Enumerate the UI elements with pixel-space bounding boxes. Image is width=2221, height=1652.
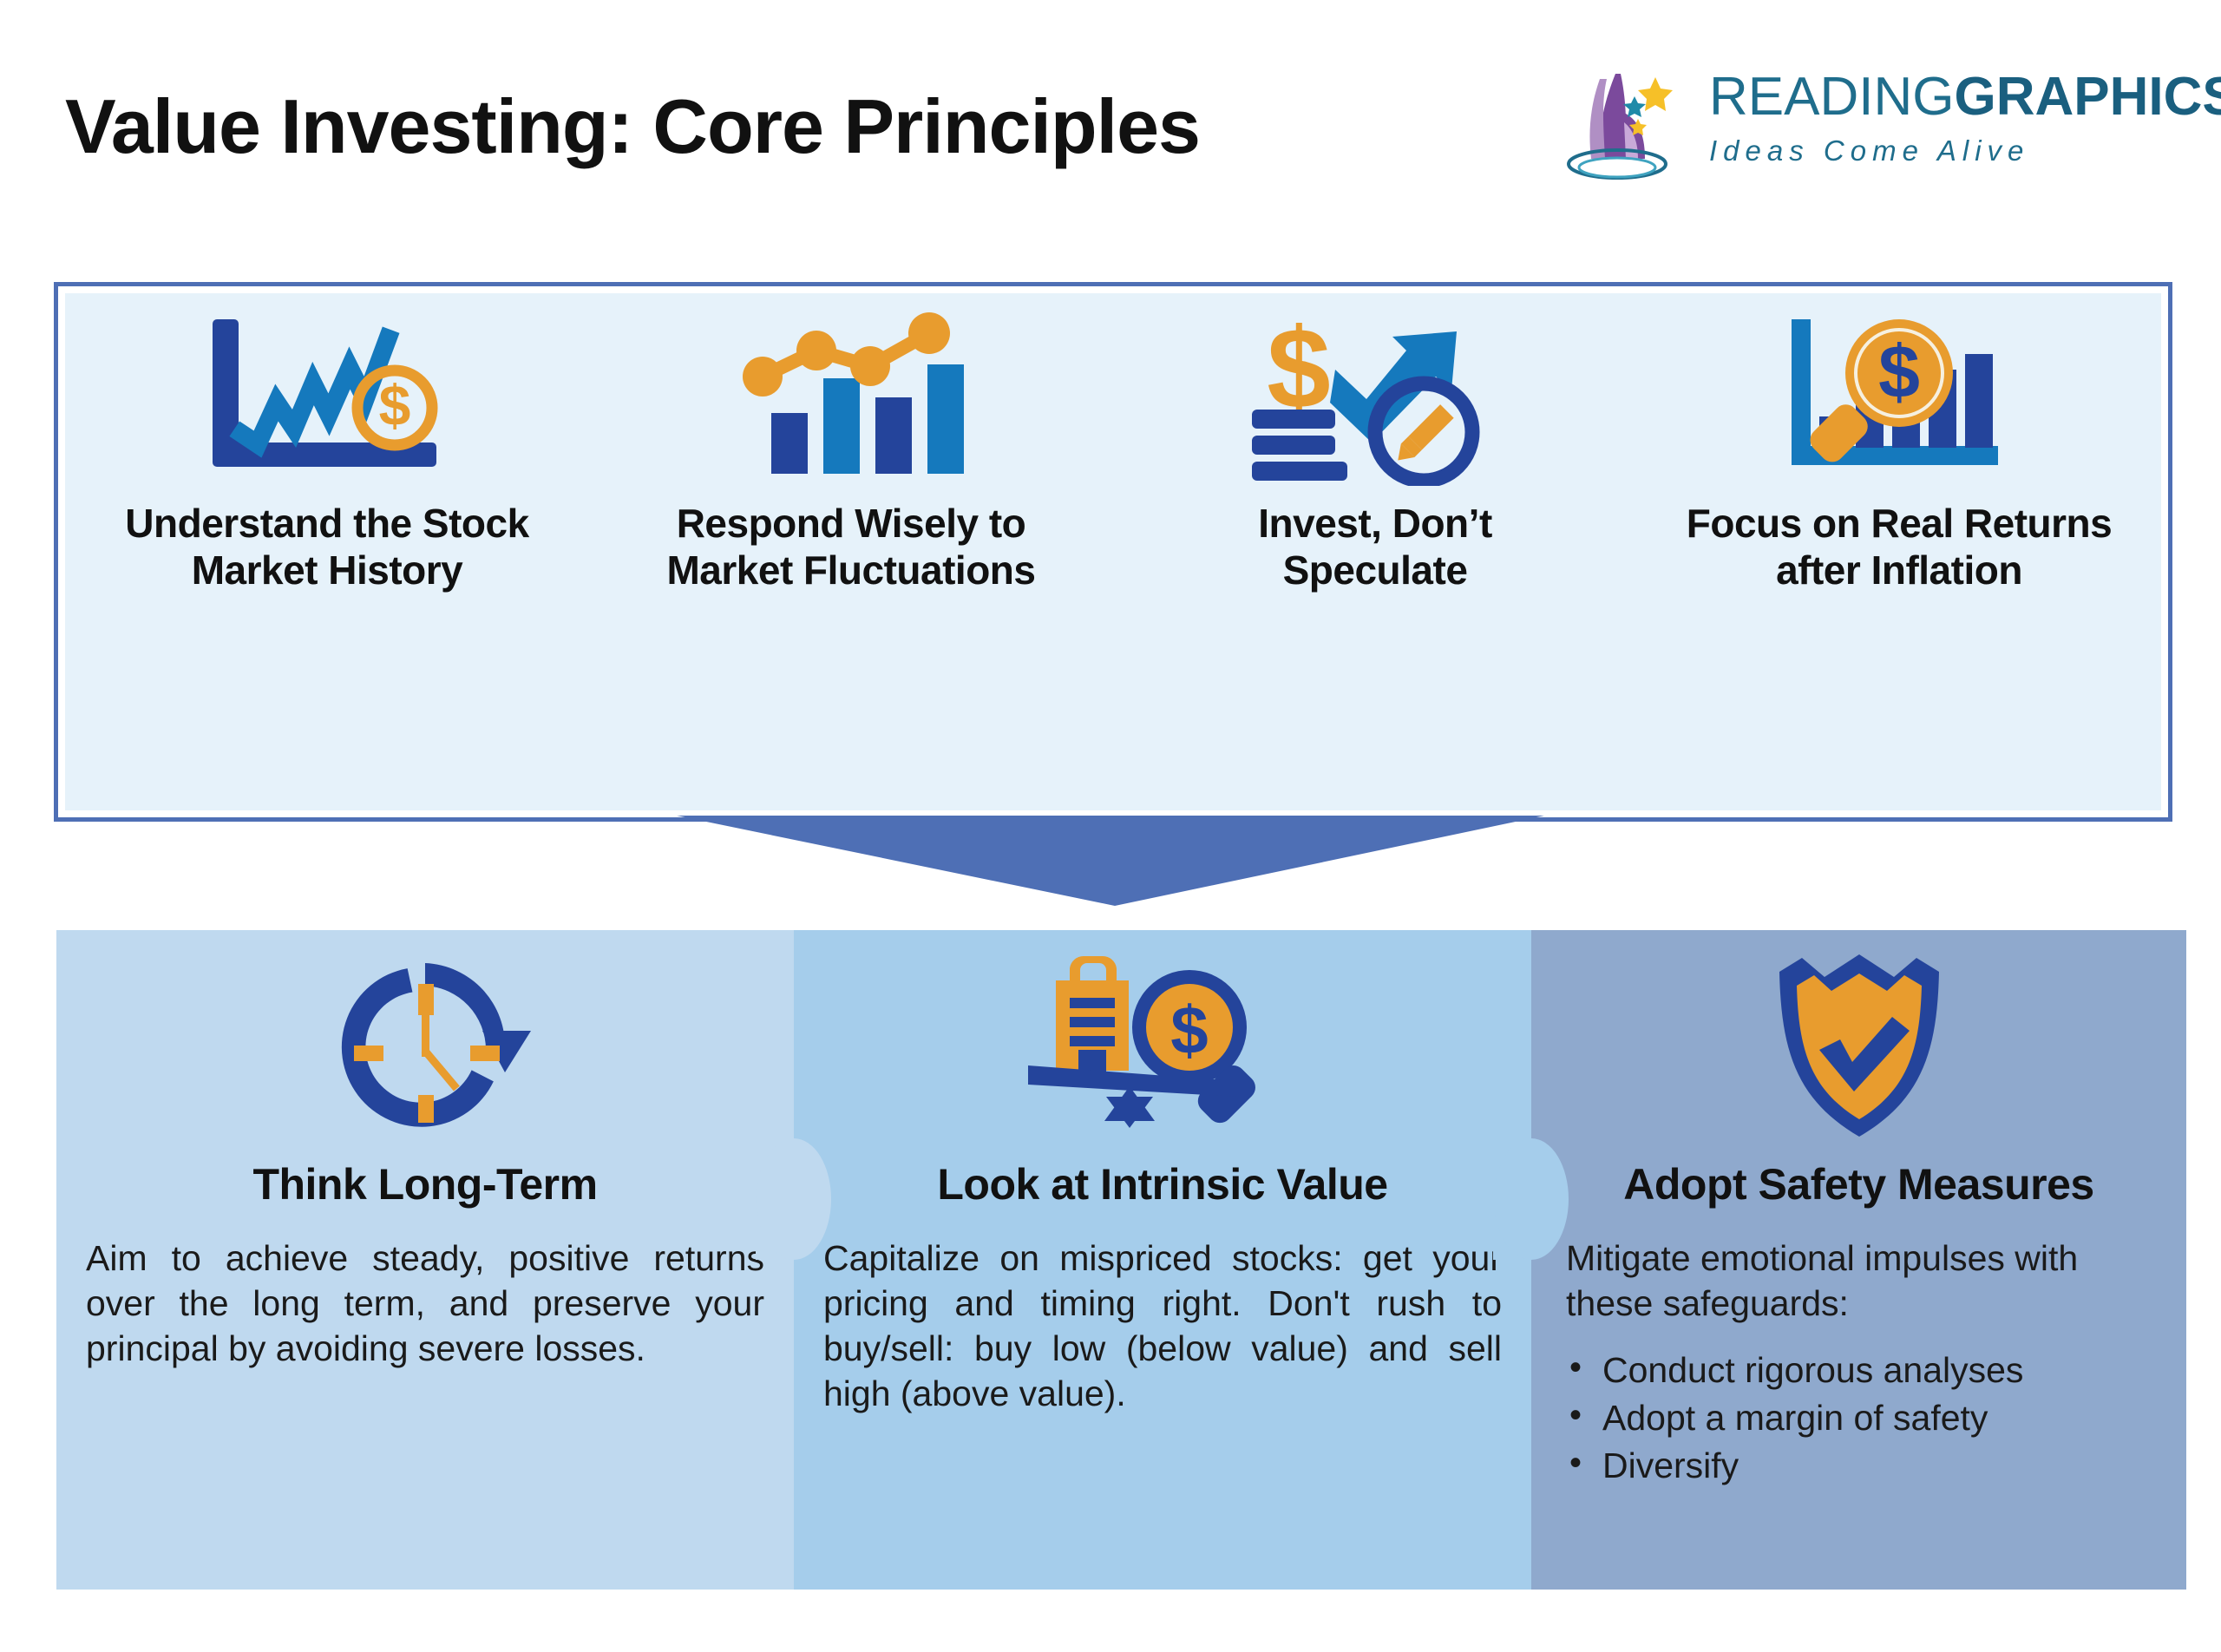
book-bird-stars-logo-icon bbox=[1562, 65, 1700, 182]
shield-checkmark-icon bbox=[1531, 930, 2186, 1156]
down-chevron-arrow-icon bbox=[677, 816, 1544, 911]
principle-label-4: Focus on Real Returns after Inflation bbox=[1687, 500, 2112, 594]
logo-wordmark: READINGGRAPHICS Ideas Come Alive bbox=[1709, 70, 2178, 167]
principle-label-2: Respond Wisely to Market Fluctuations bbox=[666, 500, 1035, 594]
logo-word-graphics: GRAPHICS bbox=[1954, 67, 2221, 127]
practices-panels: Think Long-Term Aim to achieve steady, p… bbox=[56, 930, 2186, 1590]
svg-text:$: $ bbox=[1878, 331, 1920, 414]
panel-title-2: Look at Intrinsic Value bbox=[794, 1159, 1531, 1209]
principle-label-3: Invest, Don’t Speculate bbox=[1258, 500, 1492, 594]
list-item: Adopt a margin of safety bbox=[1569, 1394, 2165, 1442]
puzzle-knob-1 bbox=[757, 1138, 831, 1260]
principle-label-1: Understand the Stock Market History bbox=[125, 500, 528, 594]
clock-rotate-arrow-icon bbox=[56, 930, 794, 1156]
safety-measures-list: Conduct rigorous analyses Adopt a margin… bbox=[1531, 1347, 2186, 1490]
panel-title-1: Think Long-Term bbox=[56, 1159, 794, 1209]
core-principles-box: $ Understand the Stock Market History bbox=[54, 282, 2172, 822]
panel-body-2: Capitalize on mispriced stocks: get your… bbox=[794, 1236, 1531, 1416]
bar-chart-with-trend-line-icon bbox=[721, 312, 981, 486]
panel-look-at-intrinsic-value: $ Look at Intrinsic Value Capitalize on … bbox=[794, 930, 1531, 1590]
puzzle-knob-2 bbox=[1494, 1138, 1569, 1260]
principle-card-2: Respond Wisely to Market Fluctuations bbox=[589, 293, 1113, 594]
svg-text:$: $ bbox=[379, 373, 411, 437]
panel-think-long-term: Think Long-Term Aim to achieve steady, p… bbox=[56, 930, 794, 1590]
balance-scale-building-magnifier-dollar-icon: $ bbox=[794, 930, 1531, 1156]
readinggraphics-logo: READINGGRAPHICS Ideas Come Alive bbox=[1562, 65, 2169, 182]
principle-card-3: $ Invest, Don’t Speculate bbox=[1113, 293, 1637, 594]
svg-text:$: $ bbox=[1170, 992, 1208, 1068]
panel-adopt-safety-measures: Adopt Safety Measures Mitigate emotional… bbox=[1531, 930, 2186, 1590]
list-item: Diversify bbox=[1569, 1442, 2165, 1490]
principle-card-1: $ Understand the Stock Market History bbox=[65, 293, 589, 594]
panel-title-3: Adopt Safety Measures bbox=[1531, 1159, 2186, 1209]
logo-tagline: Ideas Come Alive bbox=[1709, 134, 2178, 167]
list-item: Conduct rigorous analyses bbox=[1569, 1347, 2165, 1394]
page-title: Value Investing: Core Principles bbox=[65, 82, 1200, 171]
panel-body-1: Aim to achieve steady, positive returns … bbox=[56, 1236, 794, 1371]
dollar-coins-arrow-pencil-icon: $ bbox=[1245, 312, 1505, 486]
line-chart-with-dollar-coin-icon: $ bbox=[197, 312, 457, 486]
logo-word-reading: READING bbox=[1709, 67, 1954, 127]
panel-body-3: Mitigate emotional impulses with these s… bbox=[1531, 1236, 2186, 1326]
header: Value Investing: Core Principles READING… bbox=[0, 0, 2221, 260]
principle-card-4: $ Focus on Real Returns after Inflation bbox=[1637, 293, 2161, 594]
bar-chart-magnifier-dollar-icon: $ bbox=[1769, 312, 2029, 486]
